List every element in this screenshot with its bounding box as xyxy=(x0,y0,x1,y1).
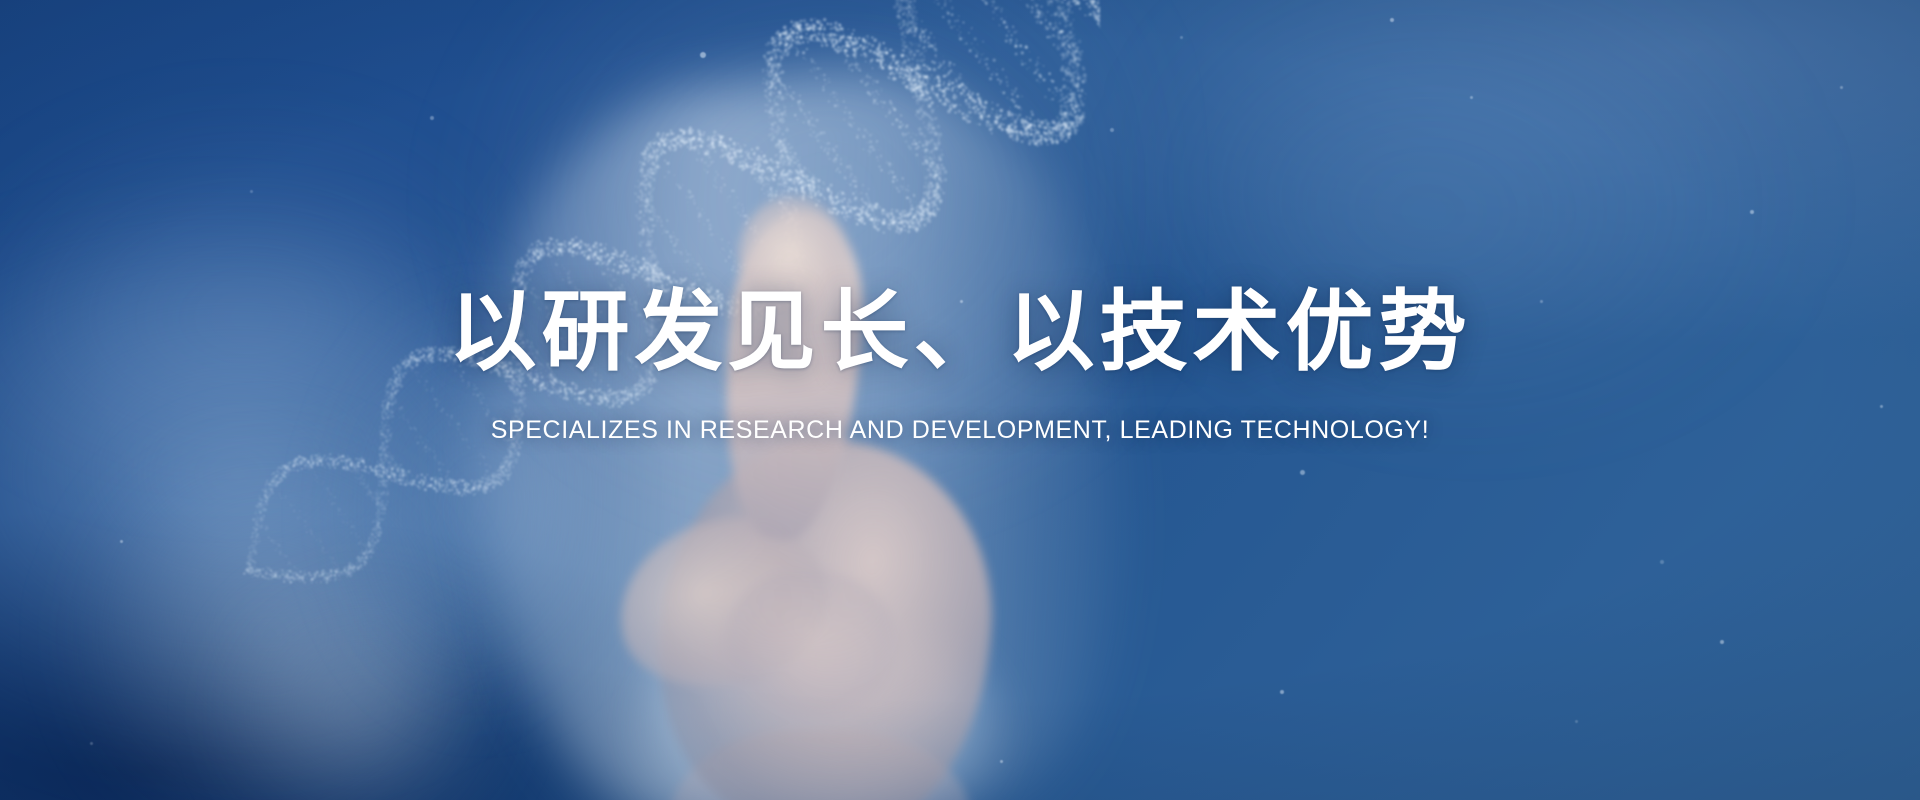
bokeh-speck xyxy=(430,116,434,120)
hand-wrist xyxy=(670,730,970,800)
bokeh-speck xyxy=(90,742,93,745)
molecule-cloud-blob xyxy=(60,420,480,800)
dna-glow xyxy=(430,0,1150,540)
bokeh-speck xyxy=(1180,36,1183,39)
bokeh-speck xyxy=(1280,690,1284,694)
lab-coat-cuff xyxy=(640,620,1000,800)
molecule-cloud-blob xyxy=(200,560,530,800)
bokeh-speck xyxy=(1750,210,1754,214)
bokeh-speck xyxy=(1300,470,1305,475)
bokeh-speck xyxy=(1390,18,1394,22)
hero-banner: 以研发见长、以技术优势 SPECIALIZES IN RESEARCH AND … xyxy=(0,0,1920,800)
bokeh-speck xyxy=(1840,86,1843,89)
hand-thumb xyxy=(601,497,845,708)
bokeh-speck xyxy=(1660,560,1664,564)
bokeh-speck xyxy=(1575,720,1578,723)
bokeh-speck xyxy=(1720,640,1724,644)
hand-knuckle xyxy=(720,570,900,720)
bokeh-speck xyxy=(700,52,706,58)
bokeh-speck xyxy=(1000,760,1003,763)
bokeh-speck xyxy=(1110,128,1114,132)
hand-palm xyxy=(641,424,1010,800)
page-title: 以研发见长、以技术优势 xyxy=(0,286,1920,378)
bokeh-speck xyxy=(1470,96,1473,99)
bokeh-speck xyxy=(120,540,123,543)
hero-text-block: 以研发见长、以技术优势 SPECIALIZES IN RESEARCH AND … xyxy=(0,286,1920,445)
page-subtitle: SPECIALIZES IN RESEARCH AND DEVELOPMENT,… xyxy=(0,416,1920,445)
bokeh-speck xyxy=(250,190,253,193)
